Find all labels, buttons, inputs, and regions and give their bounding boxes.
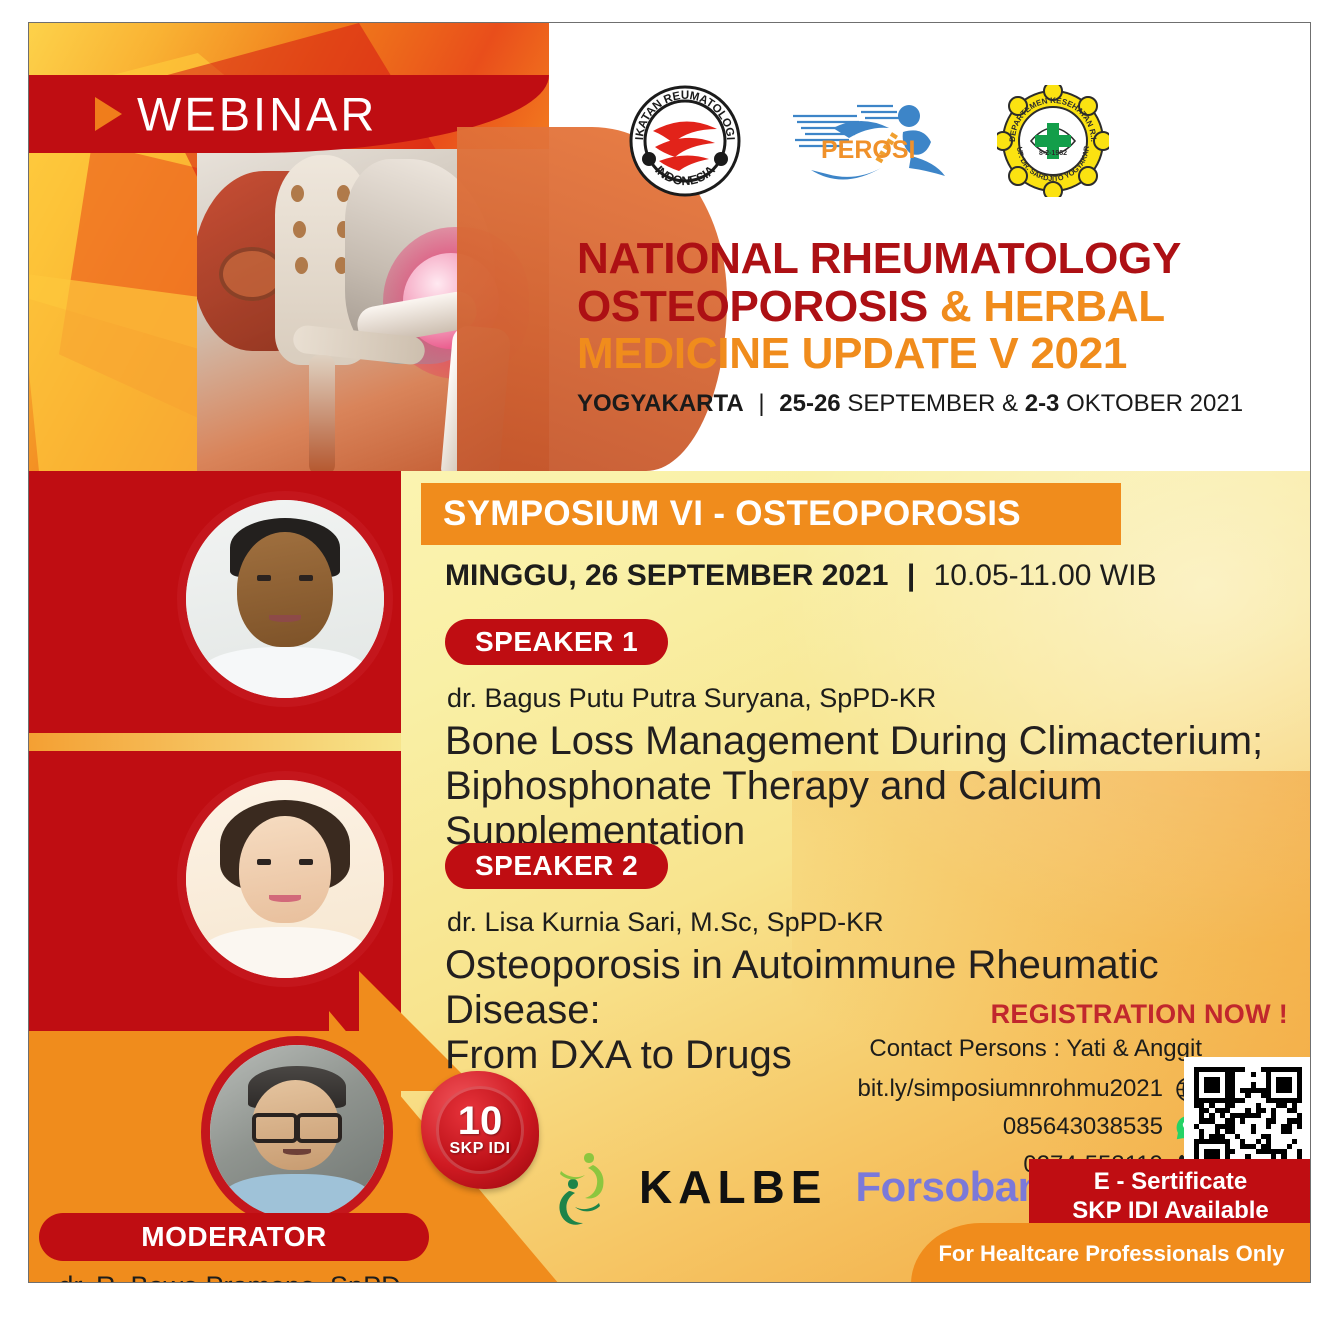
session-time: 10.05-11.00 WIB xyxy=(934,559,1157,592)
perosi-logo: PEROSI xyxy=(785,98,953,184)
eye xyxy=(299,575,313,581)
shirt xyxy=(202,647,368,698)
avatar-photo xyxy=(186,500,384,698)
contact-row-website[interactable]: bit.ly/simposiumnrohmu2021 xyxy=(858,1075,1202,1103)
datetime-divider: | xyxy=(897,559,925,592)
rsup-dr-sardjito-logo: 8-2-1982 DEPARTEMEN KESEHATAN R.I. RSUP.… xyxy=(997,85,1109,197)
speaker-1-pill: SPEAKER 1 xyxy=(445,619,668,665)
certificate-line-1: E - Sertificate xyxy=(1094,1167,1247,1196)
footer-strip: For Healtcare Professionals Only xyxy=(911,1223,1311,1283)
date-range-2: 2-3 xyxy=(1025,390,1060,417)
speaker-1-talk-line-2: Biphosphonate Therapy and Calcium Supple… xyxy=(445,764,1311,854)
mouth xyxy=(269,895,301,902)
avatar-speaker-2 xyxy=(177,771,393,987)
moderator-label: MODERATOR xyxy=(141,1221,326,1253)
svg-text:PEROSI: PEROSI xyxy=(821,136,915,164)
avatar-speaker-1 xyxy=(177,491,393,707)
session-datetime: MINGGU, 26 SEPTEMBER 2021 | 10.05-11.00 … xyxy=(445,559,1156,593)
webinar-poster: WEBINAR IKATAN REUMATOLOGI INDON xyxy=(0,0,1339,1339)
contact-row-whatsapp[interactable]: 085643038535 xyxy=(858,1113,1202,1141)
registration-heading: REGISTRATION NOW ! xyxy=(991,999,1288,1030)
contact-persons: Contact Persons : Yati & Anggit xyxy=(858,1035,1202,1063)
kalbe-figures-icon xyxy=(549,1149,611,1225)
title-line-3: MEDICINE UPDATE V 2021 xyxy=(577,330,1277,378)
avatar-photo xyxy=(186,780,384,978)
seal-inner: 10 SKP IDI xyxy=(436,1086,523,1173)
svg-text:8-2-1982: 8-2-1982 xyxy=(1039,150,1067,157)
mouth xyxy=(269,615,301,622)
title-line-2: OSTEOPOROSIS & HERBAL xyxy=(577,283,1277,331)
eye xyxy=(257,575,271,581)
speaker-1-label: SPEAKER 1 xyxy=(475,626,638,658)
event-city-dates: YOGYAKARTA | 25-26 SEPTEMBER & 2-3 OKTOB… xyxy=(577,390,1277,418)
footer-text: For Healtcare Professionals Only xyxy=(938,1241,1284,1267)
title-line-1: NATIONAL RHEUMATOLOGY xyxy=(577,235,1277,283)
skp-idi-seal: 10 SKP IDI xyxy=(421,1071,539,1189)
organizer-logos: IKATAN REUMATOLOGI INDONESIA xyxy=(629,85,1109,197)
avatar-moderator xyxy=(201,1036,393,1228)
coccyx-bone xyxy=(309,355,335,471)
poster-frame: WEBINAR IKATAN REUMATOLOGI INDON xyxy=(28,22,1311,1283)
speaker-2-name: dr. Lisa Kurnia Sari, M.Sc, SpPD-KR xyxy=(447,907,884,938)
date-month-1: SEPTEMBER & xyxy=(847,390,1018,417)
ikatan-reumatologi-indonesia-logo: IKATAN REUMATOLOGI INDONESIA xyxy=(629,85,741,197)
avatar-photo xyxy=(210,1045,384,1219)
webinar-label: WEBINAR xyxy=(137,87,377,142)
face-shape xyxy=(237,532,332,647)
seal-label: SKP IDI xyxy=(449,1140,510,1158)
symposium-title: SYMPOSIUM VI - OSTEOPOROSIS xyxy=(421,494,1021,534)
sacral-foramen xyxy=(293,221,306,238)
symposium-title-bar: SYMPOSIUM VI - OSTEOPOROSIS xyxy=(421,483,1121,545)
moderator-pill: MODERATOR xyxy=(39,1213,429,1261)
whatsapp-number[interactable]: 085643038535 xyxy=(1003,1113,1163,1141)
sacral-foramen xyxy=(291,185,304,202)
event-title-block: NATIONAL RHEUMATOLOGY OSTEOPOROSIS & HER… xyxy=(577,235,1277,418)
eye xyxy=(257,859,271,865)
speaker-2-label: SPEAKER 2 xyxy=(475,850,638,882)
eye xyxy=(299,859,313,865)
body-area: MODERATOR dr. R. Bowo Pramono, SpPD-KEMD… xyxy=(29,471,1311,1283)
sacral-foramen xyxy=(295,257,308,274)
event-city: YOGYAKARTA xyxy=(577,390,744,417)
title-herbal: HERBAL xyxy=(983,282,1165,331)
kalbe-wordmark: KALBE xyxy=(639,1160,827,1214)
seal-number: 10 xyxy=(458,1102,503,1140)
shirt xyxy=(202,927,368,978)
registration-link[interactable]: bit.ly/simposiumnrohmu2021 xyxy=(858,1075,1163,1103)
speaker-1-talk-title: Bone Loss Management During Climacterium… xyxy=(445,719,1311,855)
session-date: MINGGU, 26 SEPTEMBER 2021 xyxy=(445,559,888,592)
speaker-1-talk-line-1: Bone Loss Management During Climacterium… xyxy=(445,719,1311,764)
play-triangle-icon xyxy=(95,97,122,131)
speaker-1-name: dr. Bagus Putu Putra Suryana, SpPD-KR xyxy=(447,683,936,714)
rail-divider xyxy=(29,733,401,751)
date-month-2: OKTOBER 2021 xyxy=(1066,390,1243,417)
forsoban-wordmark: Forsoban xyxy=(855,1163,1042,1211)
moderator-name: dr. R. Bowo Pramono, SpPD-KEMD xyxy=(39,1271,429,1283)
title-divider: | xyxy=(750,390,772,417)
title-ampersand: & xyxy=(940,282,971,331)
speaker-2-pill: SPEAKER 2 xyxy=(445,843,668,889)
date-range-1: 25-26 xyxy=(779,390,840,417)
title-osteoporosis: OSTEOPOROSIS xyxy=(577,282,928,331)
face-shape xyxy=(239,816,330,923)
eyeglasses-icon xyxy=(252,1113,342,1136)
sponsor-logos: KALBE Forsoban xyxy=(549,1149,1043,1225)
